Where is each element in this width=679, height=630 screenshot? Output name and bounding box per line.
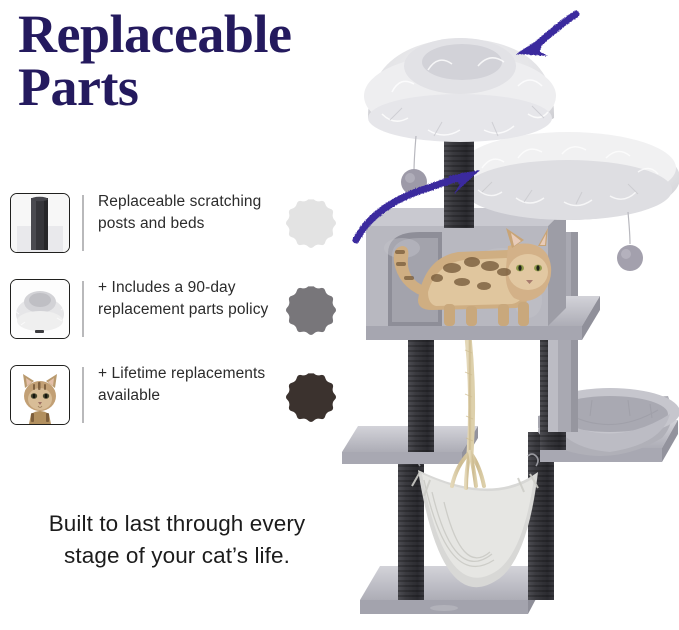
tagline: Built to last through every stage of you… bbox=[12, 508, 342, 572]
feature-divider bbox=[82, 195, 84, 251]
light-gray-swatch bbox=[284, 196, 338, 250]
feature-list: Replaceable scratching posts and beds + … bbox=[6, 193, 306, 451]
cat-tree-tower bbox=[332, 0, 679, 630]
scratching-post-thumb bbox=[10, 193, 70, 253]
mid-gray-swatch bbox=[284, 283, 338, 337]
marketing-image: Replaceable Parts Replaceable scratching… bbox=[0, 0, 679, 630]
rope-toy bbox=[452, 336, 484, 488]
feature-row: + Includes a 90-day replacement parts po… bbox=[6, 279, 306, 365]
feature-label: Replaceable scratching posts and beds bbox=[98, 191, 298, 235]
feature-divider bbox=[82, 281, 84, 337]
top-fluffy-bed bbox=[364, 38, 556, 142]
feature-label: + Includes a 90-day replacement parts po… bbox=[98, 277, 298, 321]
feature-row: + Lifetime replacements available bbox=[6, 365, 306, 451]
page-title: Replaceable Parts bbox=[18, 8, 378, 114]
middle-fluffy-bed bbox=[456, 132, 679, 220]
feature-divider bbox=[82, 367, 84, 423]
fluffy-bed-thumb bbox=[10, 279, 70, 339]
feature-row: Replaceable scratching posts and beds bbox=[6, 193, 306, 279]
dark-brown-swatch bbox=[284, 370, 338, 424]
cat-face-thumb bbox=[10, 365, 70, 425]
feature-label: + Lifetime replacements available bbox=[98, 363, 298, 407]
